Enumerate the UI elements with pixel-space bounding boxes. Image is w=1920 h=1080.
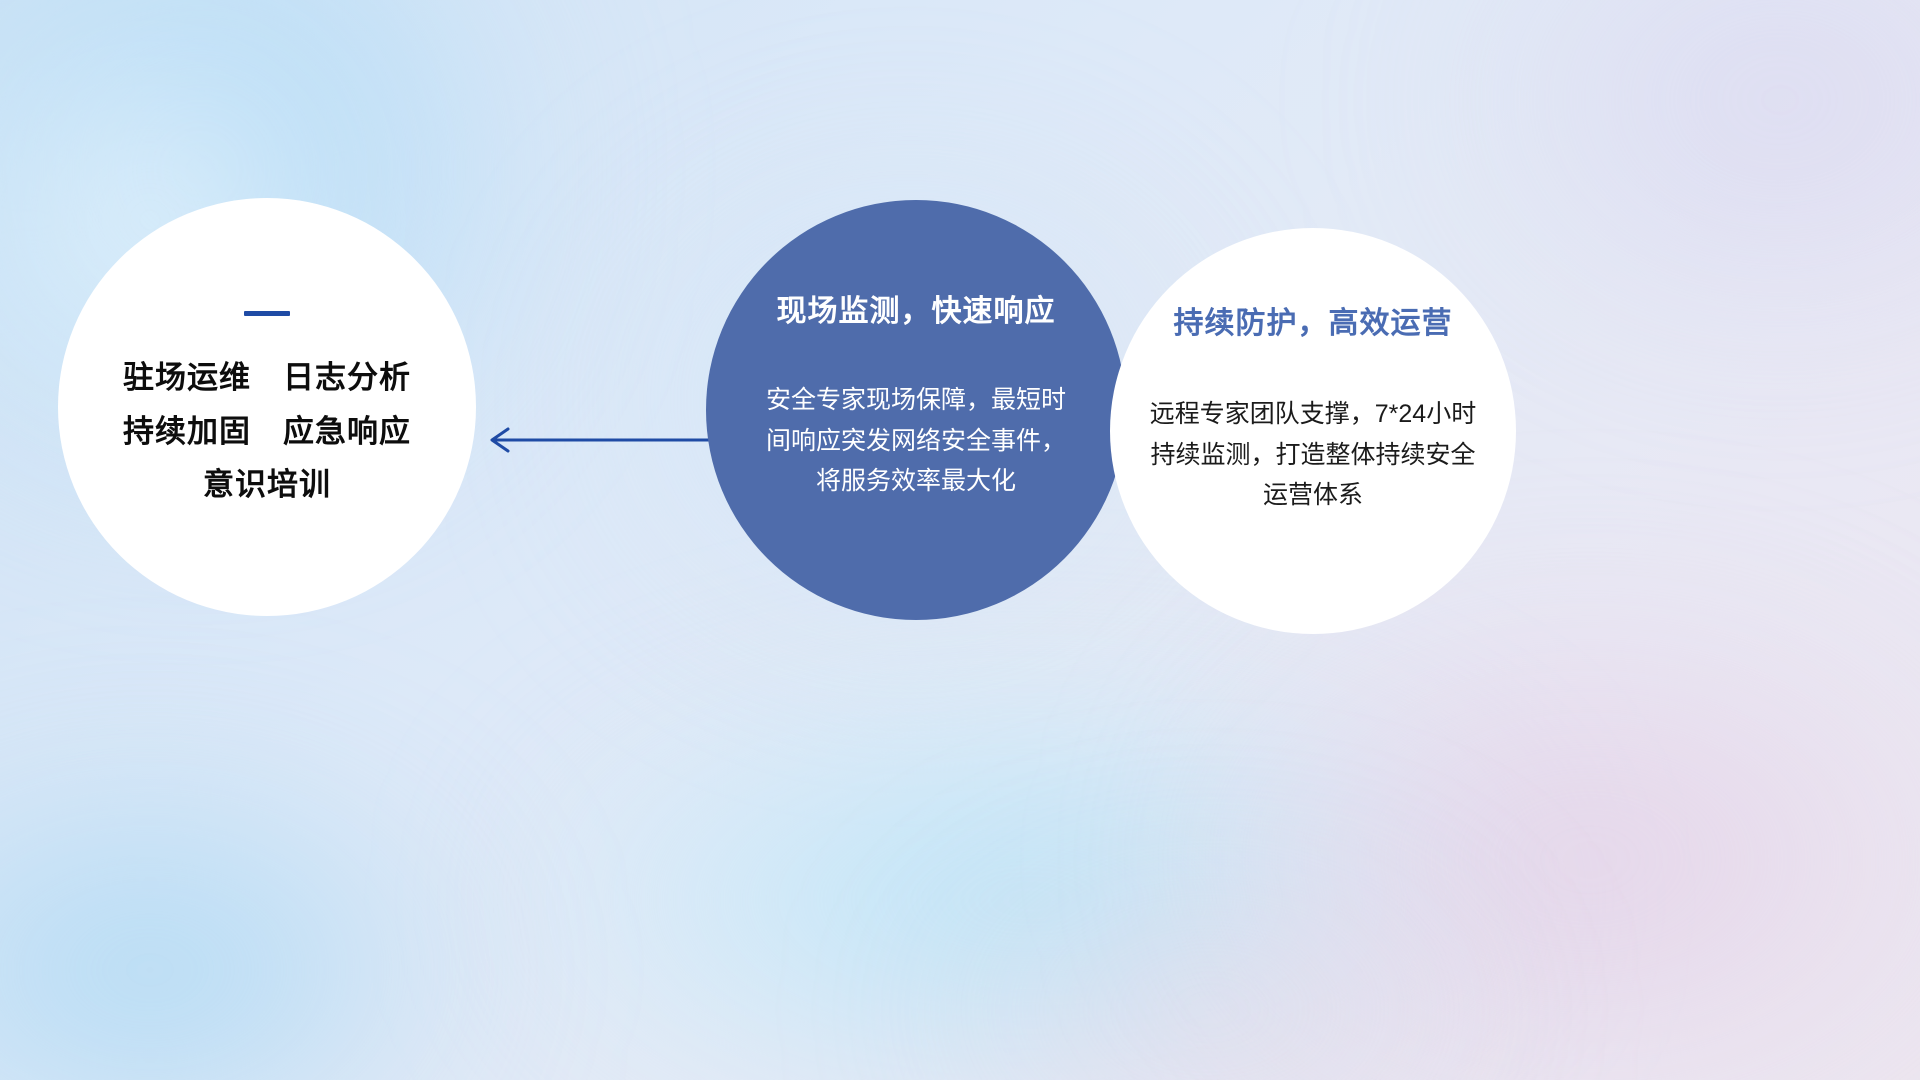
feature-title-continuous: 持续防护，高效运营 (1174, 298, 1453, 342)
feature-circle-continuous[interactable]: 持续防护，高效运营 远程专家团队支撑，7*24小时持续监测，打造整体持续安全运营… (1110, 228, 1516, 634)
feature-body-onsite: 安全专家现场保障，最短时间响应突发网络安全事件，将服务效率最大化 (766, 380, 1066, 502)
flow-arrow-icon (480, 418, 720, 462)
capability-circle-left[interactable]: 驻场运维 日志分析 持续加固 应急响应 意识培训 (58, 198, 476, 616)
feature-circle-onsite[interactable]: 现场监测，快速响应 安全专家现场保障，最短时间响应突发网络安全事件，将服务效率最… (706, 200, 1126, 620)
slide-canvas: 驻场运维 日志分析 持续加固 应急响应 意识培训 现场监测，快速响应 安全专家现… (0, 0, 1920, 1080)
capability-list: 驻场运维 日志分析 持续加固 应急响应 意识培训 (123, 360, 411, 503)
capability-line-2: 持续加固 应急响应 (123, 414, 411, 450)
feature-body-continuous: 远程专家团队支撑，7*24小时持续监测，打造整体持续安全运营体系 (1141, 394, 1485, 516)
capability-line-3: 意识培训 (203, 467, 331, 503)
feature-title-onsite: 现场监测，快速响应 (777, 286, 1056, 330)
divider-dash-icon (244, 311, 290, 316)
capability-line-1: 驻场运维 日志分析 (123, 360, 411, 396)
